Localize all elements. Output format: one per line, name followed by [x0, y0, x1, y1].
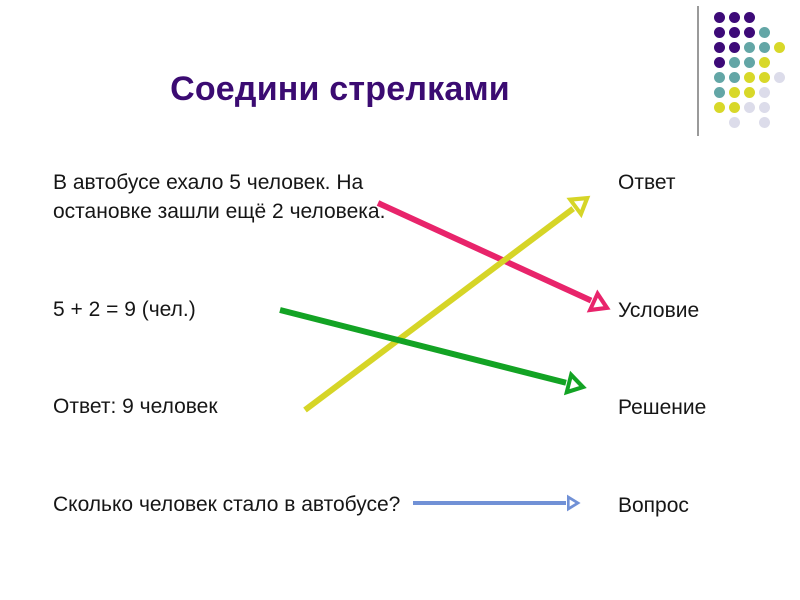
- decorative-dot: [744, 42, 755, 53]
- page-title: Соедини стрелками: [0, 70, 680, 109]
- arrow-question-to-vopros-head-notch: [570, 499, 576, 506]
- decorative-dot: [714, 102, 725, 113]
- left-item-answer[interactable]: Ответ: 9 человек: [53, 392, 453, 421]
- decorative-dot: [714, 87, 725, 98]
- decorative-dot: [744, 102, 755, 113]
- decorative-dot: [774, 72, 785, 83]
- arrow-answer-to-otvet-head-notch: [574, 200, 584, 209]
- decorative-dot: [759, 57, 770, 68]
- left-item-condition[interactable]: В автобусе ехало 5 человек. На остановке…: [53, 168, 453, 226]
- decorative-dot: [729, 102, 740, 113]
- decorative-dot: [759, 102, 770, 113]
- decorative-dot: [774, 42, 785, 53]
- decorative-dot: [759, 87, 770, 98]
- decorative-dot: [729, 12, 740, 23]
- decorative-dot: [729, 72, 740, 83]
- arrow-question-to-vopros-head: [567, 495, 581, 512]
- decorative-dot: [729, 87, 740, 98]
- right-label-uslovie[interactable]: Условие: [618, 296, 699, 325]
- arrow-answer-to-otvet-head: [566, 196, 590, 218]
- decorative-dot: [759, 42, 770, 53]
- decorative-dot: [744, 72, 755, 83]
- left-item-question[interactable]: Сколько человек стало в автобусе?: [53, 490, 453, 519]
- right-label-reshenie[interactable]: Решение: [618, 393, 706, 422]
- decorative-dot: [729, 27, 740, 38]
- decorative-dot: [714, 42, 725, 53]
- arrow-condition-to-uslovie-head-notch: [593, 298, 603, 308]
- vertical-divider-line: [697, 6, 699, 136]
- decorative-dot: [714, 57, 725, 68]
- arrow-solution-to-reshenie-head: [564, 371, 587, 395]
- decorative-dot: [744, 57, 755, 68]
- decorative-dot-cluster: [690, 0, 800, 145]
- decorative-dot: [714, 12, 725, 23]
- left-item-solution[interactable]: 5 + 2 = 9 (чел.): [53, 295, 453, 324]
- decorative-dot: [759, 72, 770, 83]
- decorative-dot: [714, 72, 725, 83]
- right-label-vopros[interactable]: Вопрос: [618, 491, 689, 520]
- decorative-dot: [744, 87, 755, 98]
- decorative-dot: [729, 57, 740, 68]
- decorative-dot: [744, 27, 755, 38]
- arrow-solution-to-reshenie-head-notch: [570, 379, 580, 389]
- decorative-dot: [714, 27, 725, 38]
- slide-canvas: Соедини стрелками В автобусе ехало 5 чел…: [0, 0, 800, 600]
- right-label-otvet[interactable]: Ответ: [618, 168, 675, 197]
- arrow-condition-to-uslovie-head: [587, 290, 611, 313]
- decorative-dot: [729, 117, 740, 128]
- decorative-dot: [744, 12, 755, 23]
- decorative-dot: [759, 117, 770, 128]
- decorative-dot: [759, 27, 770, 38]
- dot-grid: [714, 12, 800, 142]
- decorative-dot: [729, 42, 740, 53]
